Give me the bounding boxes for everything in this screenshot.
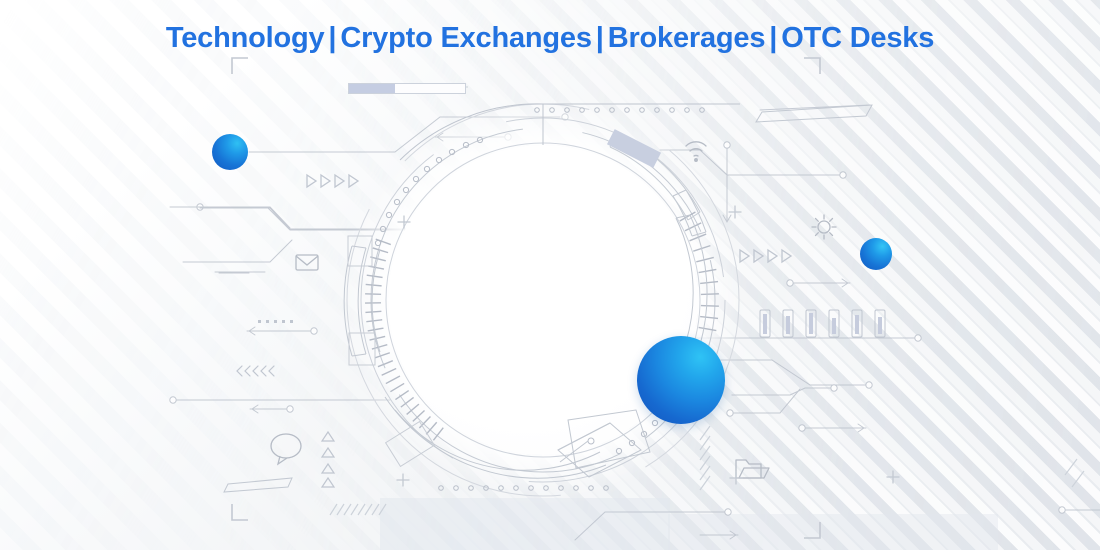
plus-marks [397, 206, 899, 486]
hatch-marks-icon [330, 504, 386, 515]
title-separator-2: | [592, 22, 608, 54]
title-segment-crypto-exchanges: Crypto Exchanges [340, 22, 591, 54]
envelope-icon [296, 255, 318, 270]
hatch-marks-icon-far-right [1065, 459, 1084, 487]
bracket-top-left [232, 58, 248, 74]
sun-icon [812, 215, 836, 239]
title-segment-technology: Technology [166, 22, 325, 54]
slider-bars-icon [760, 310, 885, 337]
title-segment-brokerages: Brokerages [608, 22, 766, 54]
triangle-stack-icon [322, 432, 334, 487]
sphere-main-accent [637, 336, 725, 424]
hud-ring-layer [0, 0, 1100, 550]
play-arrows-left [307, 175, 358, 187]
page-title: Technology|Crypto Exchanges|Brokerages|O… [0, 22, 1100, 55]
title-separator-3: | [765, 22, 781, 54]
parallelogram-bottom-left [224, 478, 292, 492]
dot-row-top [535, 108, 705, 113]
progress-bar-fill [349, 84, 395, 93]
corner-brackets [232, 58, 820, 538]
sphere-left-accent [212, 134, 248, 170]
bracket-bottom-left [232, 504, 248, 520]
parallelogram-shapes [224, 105, 872, 492]
title-segment-otc-desks: OTC Desks [781, 22, 934, 54]
dot-row-icon [258, 320, 293, 323]
progress-bar[interactable] [348, 83, 466, 94]
ring-panel-left [344, 236, 380, 365]
bracket-top-right [804, 58, 820, 74]
dot-row-bottom [439, 486, 609, 491]
chevron-row-icon [237, 366, 274, 376]
bracket-bottom-right [804, 522, 820, 538]
title-separator-1: | [324, 22, 340, 54]
parallelogram-top-right [756, 105, 872, 122]
wifi-icon [686, 142, 706, 162]
hatch-marks-icon-right [700, 426, 710, 490]
speech-bubble-icon [271, 434, 301, 464]
sphere-right-accent [860, 238, 892, 270]
folder-icon [736, 460, 769, 478]
hero-banner: Technology|Crypto Exchanges|Brokerages|O… [0, 0, 1100, 550]
play-arrows-right [740, 250, 791, 262]
